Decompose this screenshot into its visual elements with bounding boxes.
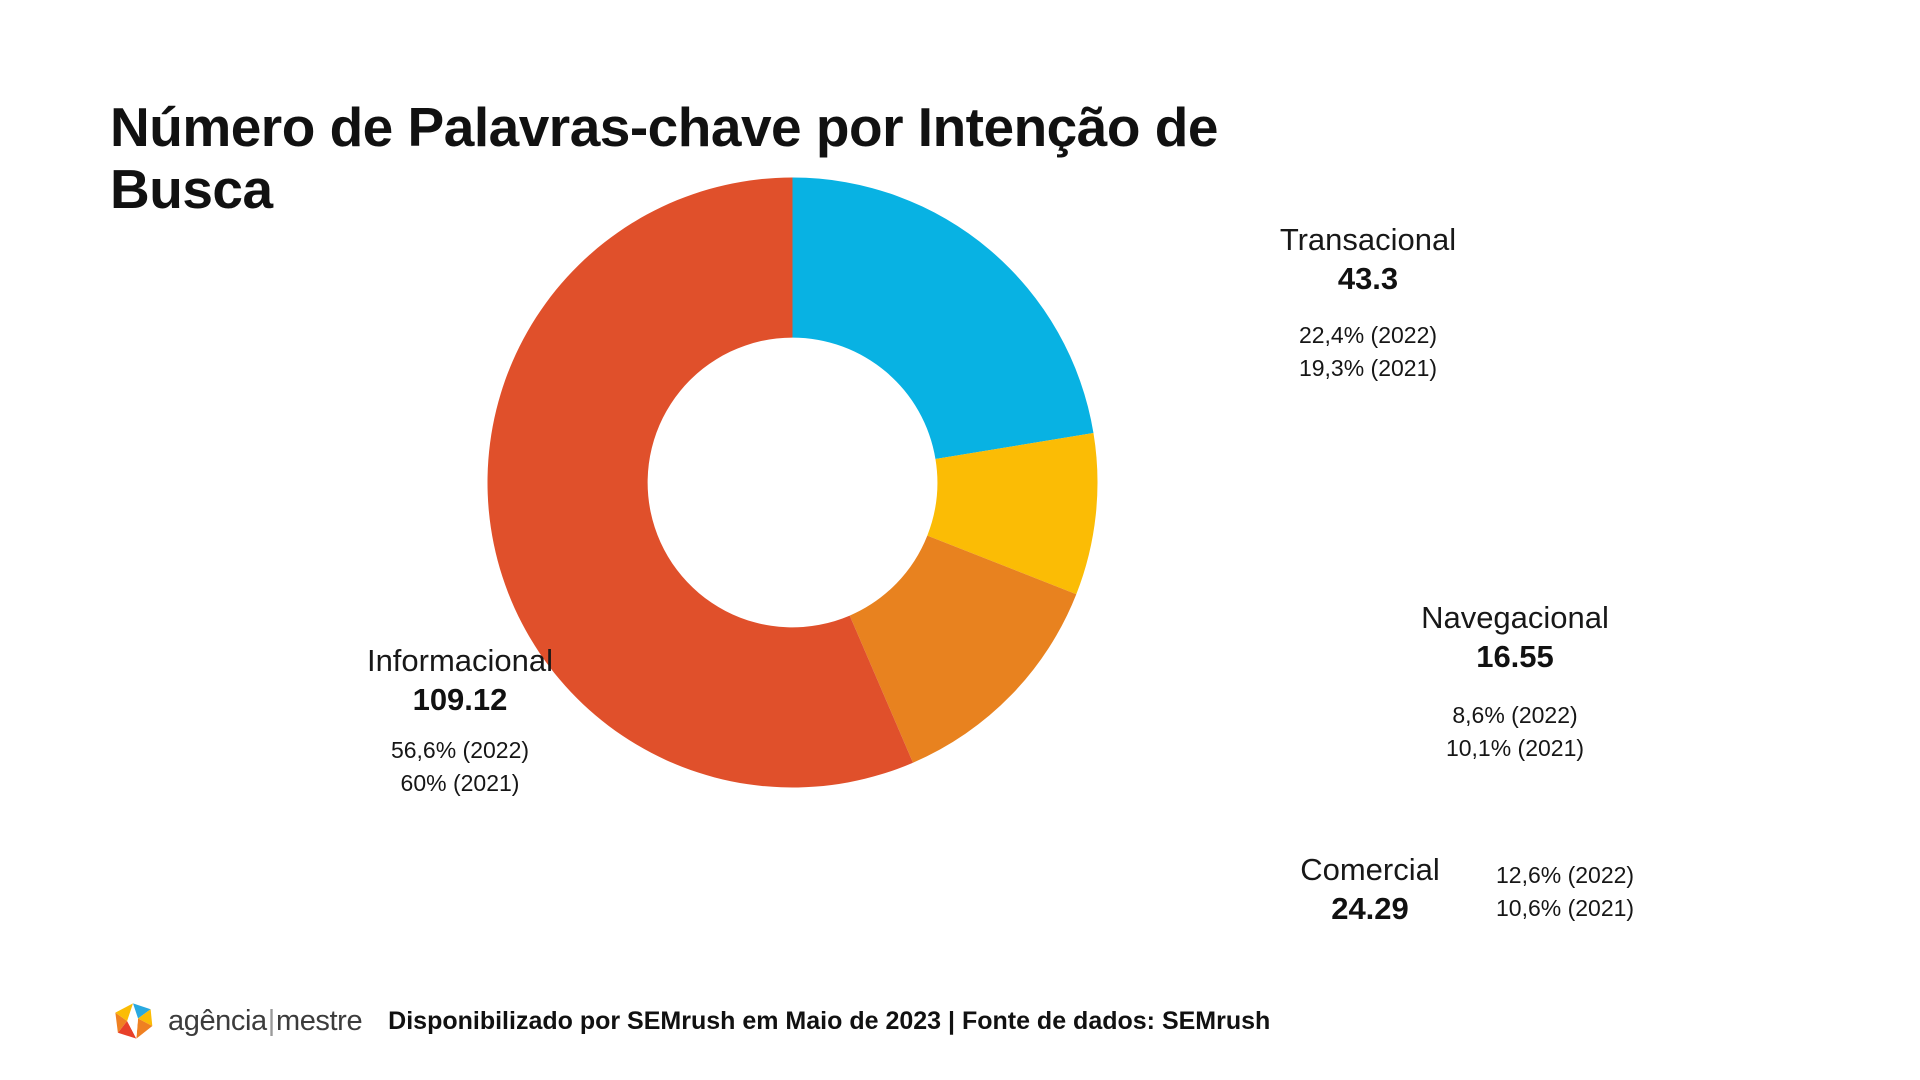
slice-label-transacional-value: 43.3 [1238,259,1498,299]
slice-pct-2022: 12,6% (2022) [1496,859,1634,892]
slice-pct-2021: 10,1% (2021) [1380,732,1650,765]
agencia-mestre-logo-icon [112,1000,154,1042]
slice-label-navegacional-value: 16.55 [1380,637,1650,677]
slice-label-comercial: Comercial 24.29 12,6% (2022) 10,6% (2021… [1270,852,1634,929]
slice-label-comercial-name: Comercial [1270,852,1470,889]
slice-label-navegacional: Navegacional 16.55 8,6% (2022) 10,1% (20… [1380,600,1650,766]
footer-source-text: Disponibilizado por SEMrush em Maio de 2… [388,1007,1270,1036]
brand-wordmark: agência|mestre [168,1005,362,1038]
slice-pct-2021: 10,6% (2021) [1496,892,1634,925]
slice-label-transacional: Transacional 43.3 22,4% (2022) 19,3% (20… [1238,222,1498,386]
slice-label-comercial-text: Comercial 24.29 [1270,852,1470,929]
slice-label-informacional: Informacional 109.12 56,6% (2022) 60% (2… [320,643,600,801]
brand-word-primary: agência [168,1005,267,1037]
slice-label-comercial-percents: 12,6% (2022) 10,6% (2021) [1496,852,1634,926]
slice-label-informacional-percents: 56,6% (2022) 60% (2021) [320,734,600,801]
slice-label-navegacional-percents: 8,6% (2022) 10,1% (2021) [1380,699,1650,766]
slice-label-navegacional-name: Navegacional [1380,600,1650,637]
brand-separator: | [267,1005,276,1037]
slice-pct-2021: 19,3% (2021) [1238,352,1498,385]
slice-label-comercial-value: 24.29 [1270,889,1470,929]
slice-label-transacional-percents: 22,4% (2022) 19,3% (2021) [1238,319,1498,386]
slice-pct-2022: 22,4% (2022) [1238,319,1498,352]
brand-word-secondary: mestre [276,1005,362,1037]
slice-pct-2022: 56,6% (2022) [320,734,600,767]
slice-pct-2022: 8,6% (2022) [1380,699,1650,732]
slice-label-informacional-value: 109.12 [320,680,600,720]
slice-label-informacional-name: Informacional [320,643,600,680]
donut-slice-transacional[interactable] [793,178,1094,459]
slice-pct-2021: 60% (2021) [320,767,600,800]
slice-label-transacional-name: Transacional [1238,222,1498,259]
footer: agência|mestre Disponibilizado por SEMru… [112,1000,1270,1042]
